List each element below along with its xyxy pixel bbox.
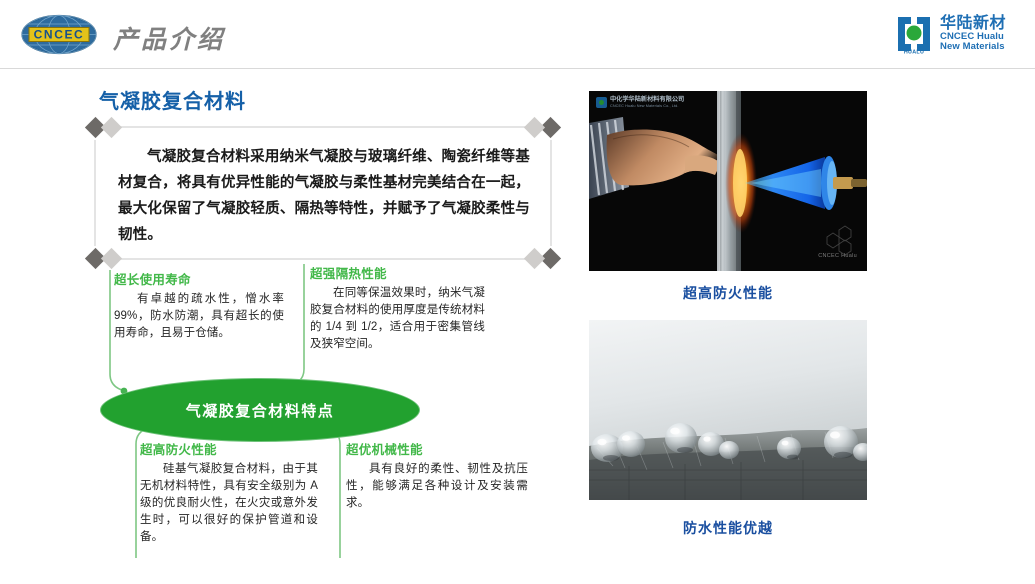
watermark-text-en: CNCEC Hualu New Materials Co., Ltd. [610,104,684,108]
hualu-logo: HUALU 华陆新材 CNCEC Hualu New Materials [895,12,1025,56]
features-diagram: 气凝胶复合材料特点 超长使用寿命 有卓越的疏水性，憎水率99%，防水防潮，具有超… [88,262,568,562]
cncec-logo-icon: CNCEC [20,13,98,56]
watermark-text: 中化学华陆新材料有限公司 CNCEC Hualu New Materials C… [610,97,684,108]
corner-diamond-top-left-light [101,117,122,138]
intro-border-bottom [108,258,538,260]
watermark-logo-icon [596,97,607,108]
fireproof-photo: 中化学华陆新材料有限公司 CNCEC Hualu New Materials C… [589,91,867,271]
feature-title-mechanical: 超优机械性能 [346,439,528,458]
photo-corner-mark: CNCEC Hualu [818,253,857,259]
watermark-text-cn: 中化学华陆新材料有限公司 [610,97,684,104]
feature-body-fireproof: 硅基气凝胶复合材料，由于其无机材料特性，具有安全级别为 A 级的优良耐火性，在火… [140,461,318,546]
intro-border-left [94,140,96,246]
fireproof-photo-caption: 超高防火性能 [589,283,867,303]
waterproof-photo-image [589,320,867,500]
slide: CNCEC 产品介绍 HUALU 华陆新材 CNCEC Hualu New Ma… [0,0,1035,584]
feature-card-mechanical: 超优机械性能 具有良好的柔性、韧性及抗压性，能够满足各种设计及安装需求。 [346,439,528,512]
intro-border-top [108,126,538,128]
page-title: 产品介绍 [113,20,225,56]
corner-diamond-top-right-light [524,117,545,138]
svg-text:CNCEC: CNCEC [34,28,85,42]
intro-paragraph: 气凝胶复合材料采用纳米气凝胶与玻璃纤维、陶瓷纤维等基材复合，将具有优异性能的气凝… [118,144,530,248]
diagram-center-node: 气凝胶复合材料特点 [100,378,420,442]
feature-title-life: 超长使用寿命 [114,269,284,288]
feature-body-life: 有卓越的疏水性，憎水率99%，防水防潮，具有超长的使用寿命，且易于仓储。 [114,291,284,342]
section-heading: 气凝胶复合材料 [99,85,246,114]
photo-watermark: 中化学华陆新材料有限公司 CNCEC Hualu New Materials C… [596,97,684,108]
hualu-name-en2: New Materials [940,42,1006,52]
feature-title-insulation: 超强隔热性能 [310,263,485,282]
hualu-name-cn: 华陆新材 [940,16,1006,33]
header-divider [0,68,1035,69]
intro-border-right [550,140,552,246]
waterproof-photo-caption: 防水性能优越 [589,518,867,538]
svg-text:HUALU: HUALU [904,49,924,54]
intro-textbox: 气凝胶复合材料采用纳米气凝胶与玻璃纤维、陶瓷纤维等基材复合，将具有优异性能的气凝… [94,126,552,260]
hualu-wordmark: 华陆新材 CNCEC Hualu New Materials [940,16,1006,52]
diagram-center-label: 气凝胶复合材料特点 [186,400,335,421]
feature-card-fireproof: 超高防火性能 硅基气凝胶复合材料，由于其无机材料特性，具有安全级别为 A 级的优… [140,439,318,546]
feature-card-life: 超长使用寿命 有卓越的疏水性，憎水率99%，防水防潮，具有超长的使用寿命，且易于… [114,269,284,342]
hualu-mark-icon: HUALU [895,14,933,54]
fireproof-photo-image [589,91,867,271]
feature-title-fireproof: 超高防火性能 [140,439,318,458]
waterproof-photo [589,320,867,500]
feature-card-insulation: 超强隔热性能 在同等保温效果时，纳米气凝胶复合材料的使用厚度是传统材料的 1/4… [310,263,485,353]
feature-body-mechanical: 具有良好的柔性、韧性及抗压性，能够满足各种设计及安装需求。 [346,461,528,512]
feature-body-insulation: 在同等保温效果时，纳米气凝胶复合材料的使用厚度是传统材料的 1/4 到 1/2，… [310,285,485,353]
